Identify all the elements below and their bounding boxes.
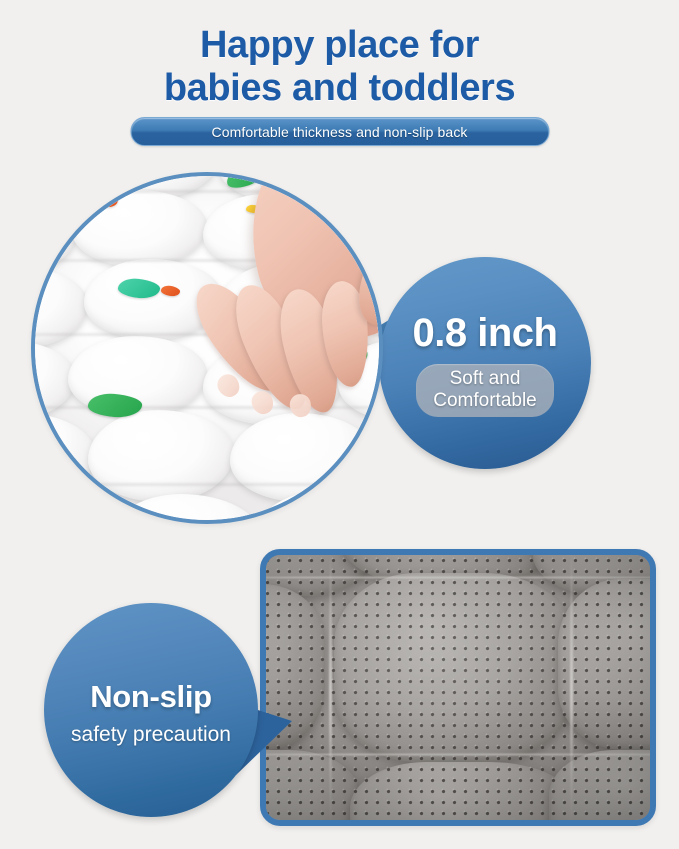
headline-line-1: Happy place for (0, 24, 679, 67)
nonslip-subtitle: safety precaution (71, 724, 231, 745)
grey-quilt-texture (266, 555, 650, 820)
thickness-callout-bubble: 0.8 inch Soft and Comfortable (379, 257, 591, 469)
nonslip-title: Non-slip (90, 681, 212, 712)
bubble-content: 0.8 inch Soft and Comfortable (379, 257, 591, 469)
bubble-content: Non-slip safety precaution (44, 603, 258, 817)
grey-photo-vignette (266, 555, 650, 820)
nonslip-backing-photo-inner (266, 555, 650, 820)
nonslip-backing-photo (260, 549, 656, 826)
soft-pill-line-2: Comfortable (433, 390, 537, 411)
mattress-hand-photo (31, 172, 383, 524)
headline-line-2: babies and toddlers (0, 67, 679, 110)
subtitle-banner: Comfortable thickness and non-slip back (130, 117, 549, 146)
soft-comfortable-pill: Soft and Comfortable (416, 364, 554, 417)
nonslip-callout-bubble: Non-slip safety precaution (44, 603, 258, 817)
header: Happy place for babies and toddlers (0, 0, 679, 109)
page-title: Happy place for babies and toddlers (0, 0, 679, 109)
soft-pill-line-1: Soft and (433, 368, 537, 389)
subtitle-text: Comfortable thickness and non-slip back (211, 124, 467, 140)
hand-pressing (199, 176, 379, 440)
mattress-hand-photo-inner (35, 176, 379, 520)
white-quilt-texture (35, 176, 379, 520)
thickness-value: 0.8 inch (413, 313, 558, 353)
infographic-page: Happy place for babies and toddlers Comf… (0, 0, 679, 849)
